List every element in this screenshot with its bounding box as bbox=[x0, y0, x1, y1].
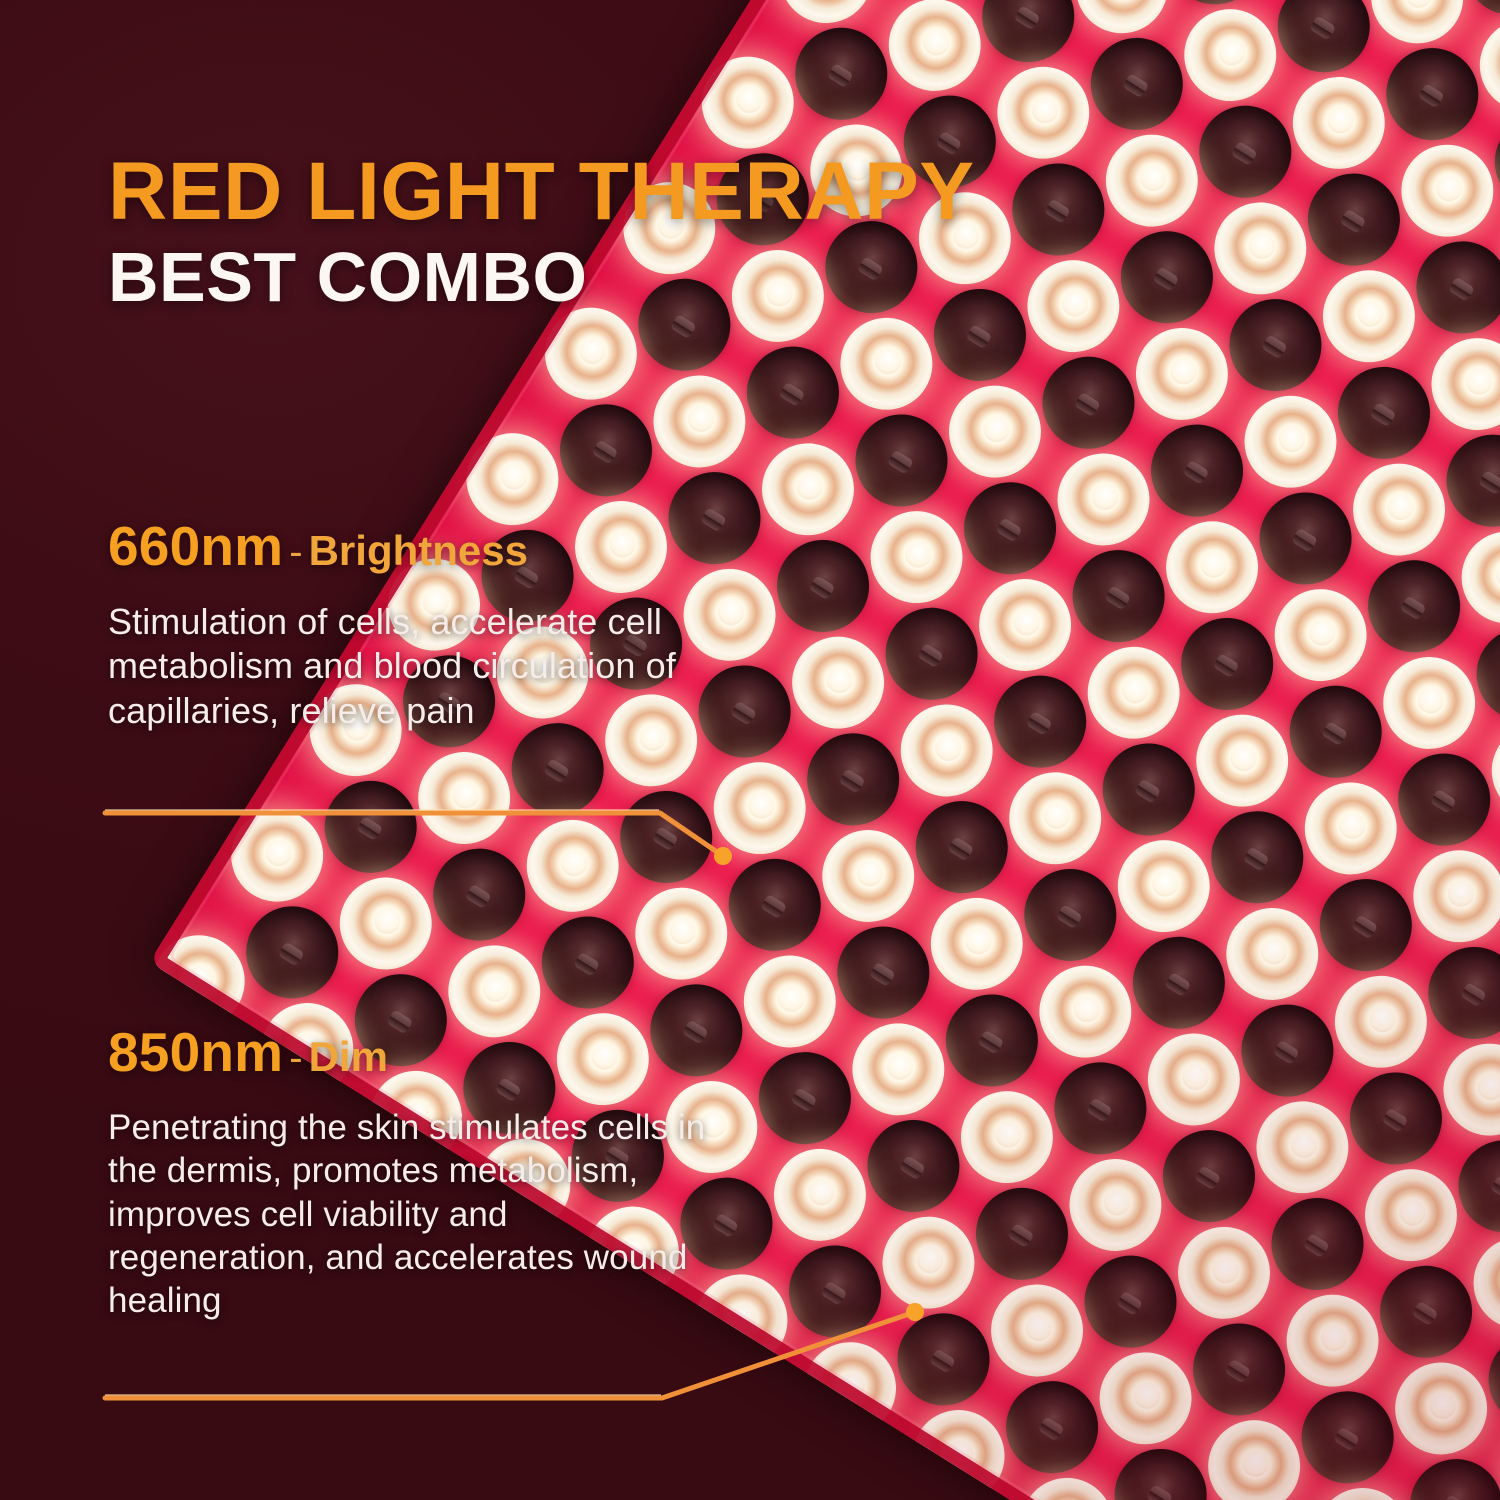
spec-660-mode: Brightness bbox=[309, 527, 528, 574]
headline-secondary: BEST COMBO bbox=[108, 242, 1128, 312]
spec-850-body: Penetrating the skin stimulates cells in… bbox=[108, 1106, 708, 1323]
spec-660: 660nm-Brightness Stimulation of cells, a… bbox=[108, 518, 708, 734]
spec-660-body: Stimulation of cells, accelerate cell me… bbox=[108, 600, 708, 734]
text-content: RED LIGHT THERAPY BEST COMBO 660nm-Brigh… bbox=[0, 0, 1500, 1500]
spec-660-wavelength: 660nm bbox=[108, 515, 283, 577]
spec-850-dash: - bbox=[283, 1036, 308, 1080]
spec-850-title: 850nm-Dim bbox=[108, 1024, 708, 1082]
headline-block: RED LIGHT THERAPY BEST COMBO bbox=[108, 152, 1128, 312]
spec-660-title: 660nm-Brightness bbox=[108, 518, 708, 576]
spec-660-dash: - bbox=[283, 530, 308, 574]
spec-850: 850nm-Dim Penetrating the skin stimulate… bbox=[108, 1024, 708, 1323]
spec-850-wavelength: 850nm bbox=[108, 1021, 283, 1083]
infographic-canvas: RED LIGHT THERAPY BEST COMBO 660nm-Brigh… bbox=[0, 0, 1500, 1500]
headline-primary: RED LIGHT THERAPY bbox=[108, 152, 1128, 232]
spec-850-mode: Dim bbox=[309, 1033, 388, 1080]
